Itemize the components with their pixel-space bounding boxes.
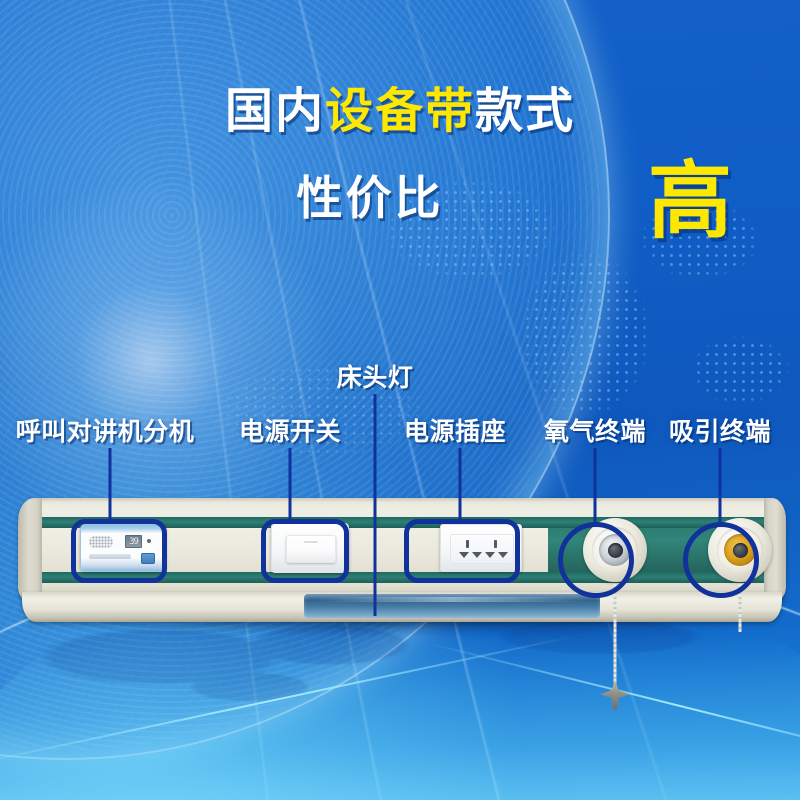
promo-image-stage: 国内设备带款式 性价比 高 呼叫对讲机分机 电源开关 床头灯 电源插座 氧气终端… [0, 0, 800, 800]
leader-line-suction [719, 448, 722, 522]
leader-line-socket [459, 448, 462, 520]
leader-line-oxygen [594, 448, 597, 522]
leader-line-bedlight [374, 394, 377, 616]
callout-layer: 呼叫对讲机分机 电源开关 床头灯 电源插座 氧气终端 吸引终端 [0, 0, 800, 800]
leader-line-intercom [109, 448, 112, 520]
callout-label-socket: 电源插座 [404, 412, 506, 448]
leader-line-switch [289, 448, 292, 520]
callout-label-oxygen: 氧气终端 [544, 412, 646, 448]
callout-label-intercom: 呼叫对讲机分机 [16, 412, 195, 448]
callout-label-suction: 吸引终端 [669, 412, 771, 448]
callout-label-bedlight: 床头灯 [337, 358, 414, 394]
callout-label-switch: 电源开关 [239, 412, 341, 448]
